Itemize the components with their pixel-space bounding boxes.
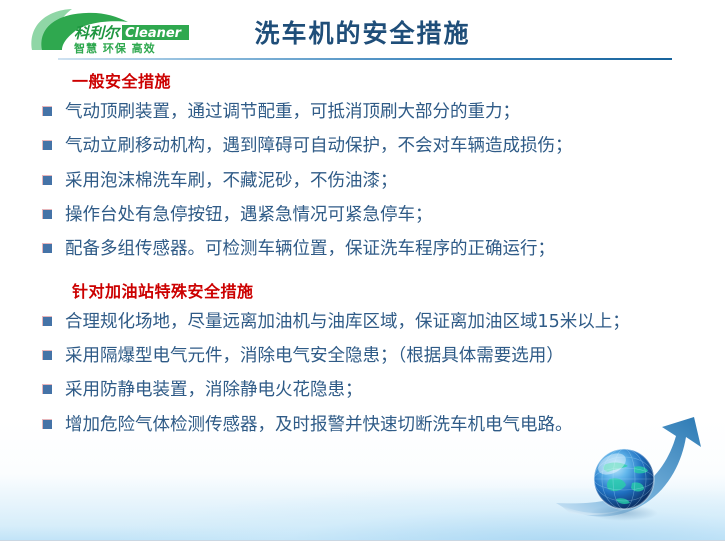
square-bullet-icon — [42, 140, 52, 150]
square-bullet-icon — [42, 106, 52, 116]
list-item-text: 合理规化场地，尽量远离加油机与油库区域，保证离加油区域15米以上； — [65, 308, 695, 336]
list-item: 气动顶刷装置，通过调节配重，可抵消顶刷大部分的重力； — [0, 98, 725, 126]
list-item-text: 操作台处有急停按钮，遇紧急情况可紧急停车； — [65, 201, 695, 229]
list-item: 增加危险气体检测传感器，及时报警并快速切断洗车机电气电路。 — [0, 411, 725, 439]
square-bullet-icon — [42, 384, 52, 394]
list-item: 气动立刷移动机构，遇到障碍可自动保护，不会对车辆造成损伤； — [0, 132, 725, 160]
page-title: 洗车机的安全措施 — [0, 14, 725, 50]
globe-icon — [594, 449, 654, 509]
globe-shadow — [590, 505, 658, 521]
list-item-text: 气动立刷移动机构，遇到障碍可自动保护，不会对车辆造成损伤； — [65, 132, 695, 160]
list-item: 合理规化场地，尽量远离加油机与油库区域，保证离加油区域15米以上； — [0, 308, 725, 336]
slide-body: 一般安全措施 气动顶刷装置，通过调节配重，可抵消顶刷大部分的重力； 气动立刷移动… — [0, 68, 725, 445]
list-item-text: 采用泡沫棉洗车刷，不藏泥砂，不伤油漆； — [65, 167, 695, 195]
list-item-text: 气动顶刷装置，通过调节配重，可抵消顶刷大部分的重力； — [65, 98, 695, 126]
arrow-highlight — [560, 503, 638, 515]
list-item: 操作台处有急停按钮，遇紧急情况可紧急停车； — [0, 201, 725, 229]
list-item: 采用泡沫棉洗车刷，不藏泥砂，不伤油漆； — [0, 167, 725, 195]
square-bullet-icon — [42, 350, 52, 360]
list-item-text: 增加危险气体检测传感器，及时报警并快速切断洗车机电气电路。 — [65, 411, 695, 439]
square-bullet-icon — [42, 316, 52, 326]
list-item-text: 配备多组传感器。可检测车辆位置，保证洗车程序的正确运行； — [65, 235, 695, 263]
square-bullet-icon — [42, 419, 52, 429]
list-item-text: 采用隔爆型电气元件，消除电气安全隐患；（根据具体需要选用） — [65, 342, 695, 370]
list-item-text: 采用防静电装置，消除静电火花隐患； — [65, 376, 695, 404]
globe-highlight — [595, 449, 630, 479]
title-underline-rule — [58, 58, 672, 60]
list-item: 配备多组传感器。可检测车辆位置，保证洗车程序的正确运行； — [0, 235, 725, 263]
square-bullet-icon — [42, 175, 52, 185]
square-bullet-icon — [42, 209, 52, 219]
list-item: 采用防静电装置，消除静电火花隐患； — [0, 376, 725, 404]
section-heading-general: 一般安全措施 — [72, 68, 725, 92]
bottom-glow — [120, 488, 725, 540]
globe-grid — [594, 449, 654, 509]
globe-rim — [594, 449, 654, 509]
slide-canvas: 科利尔 Cleaner 智慧 环保 高效 洗车机的安全措施 一般安全措施 气动顶… — [0, 0, 725, 541]
section-heading-gas-station: 针对加油站特殊安全措施 — [72, 278, 725, 302]
list-item: 采用隔爆型电气元件，消除电气安全隐患；（根据具体需要选用） — [0, 342, 725, 370]
globe-continents — [603, 462, 648, 504]
bullet-list-general: 气动顶刷装置，通过调节配重，可抵消顶刷大部分的重力； 气动立刷移动机构，遇到障碍… — [0, 98, 725, 264]
bullet-list-gas-station: 合理规化场地，尽量远离加油机与油库区域，保证离加油区域15米以上； 采用隔爆型电… — [0, 308, 725, 439]
square-bullet-icon — [42, 243, 52, 253]
